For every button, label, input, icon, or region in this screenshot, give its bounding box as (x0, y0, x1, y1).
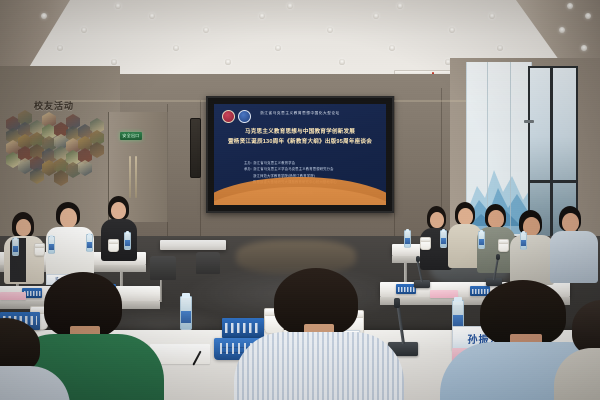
downlight-3-2 (275, 45, 281, 51)
attendee-right-3-head (488, 210, 504, 228)
projection-screen: 浙江省马克思主义教育思想中国化大型论坛 马克思主义教育思想与中国教育学创新发展 … (206, 96, 394, 213)
water-bottle-fg-1 (180, 296, 192, 330)
mic-head-fg (394, 298, 400, 308)
attendee-right-1-head (430, 212, 444, 228)
photo-wall-hex-4-4 (54, 170, 68, 186)
downlight-4-0 (111, 59, 116, 64)
downlight-1-4 (489, 13, 495, 19)
photo-wall-hex-0-3 (6, 152, 20, 168)
attendee-right-5-torso (550, 231, 598, 283)
organizer-name: 浙江省马克思主义教育学会 (253, 161, 295, 165)
photo-wall-hex-5-4 (66, 162, 80, 178)
water-bottle-r1 (404, 230, 411, 248)
photo-wall-hex-6-3 (78, 160, 92, 176)
photo-wall-hex-2-4 (30, 168, 44, 184)
water-bottle-l1 (12, 238, 19, 256)
tea-cup-l2 (108, 240, 119, 252)
exit-sign-label: 安全出口 (122, 134, 139, 138)
downlight-1-5 (585, 13, 591, 19)
downlight-4-1 (225, 59, 230, 64)
cohost-name-0: 浙江省马克思主义学会马克思主义教育思想研究分会 (253, 167, 333, 171)
attendee-right-4-torso (510, 235, 554, 285)
photo-wall-hex-3-4 (42, 160, 56, 176)
table-center-back (160, 240, 226, 250)
photo-wall-hex-7-2 (90, 142, 104, 158)
window-mullion-horizontal (530, 180, 576, 183)
tissue-box-r1 (396, 284, 416, 294)
chair-center-1-leg (160, 280, 162, 302)
slide-title-line-1: 马克思主义教育思想与中国教育学创新发展 (220, 127, 380, 137)
attendee-right-5-head (562, 213, 579, 232)
cohost-label: 承办: (244, 167, 252, 171)
downlight-1-0 (41, 13, 47, 19)
downlight-3-3 (389, 45, 395, 51)
water-bottle-r2 (440, 230, 447, 248)
document-pink-l1 (0, 292, 26, 300)
attendee-left-3-head (111, 202, 126, 219)
conference-room-photo: 校友活动 安全出口 浙江省马克思主义教育思想中国化大型论坛 马克思主义教育思想与… (0, 0, 600, 400)
slide-host-line: 浙江省马克思主义教育思想中国化大型论坛 (214, 111, 386, 116)
slide-title-line-2: 暨杨贤江诞辰130周年《新教育大纲》出版95周年座谈会 (220, 137, 380, 147)
exit-sign: 安全出口 (120, 132, 142, 140)
tea-cup-r2 (498, 240, 509, 252)
downlight-1-1 (149, 13, 155, 19)
tea-cup-l1 (34, 244, 45, 256)
photo-wall-title: 校友活动 (34, 99, 74, 112)
water-bottle-l4 (124, 232, 131, 250)
tissue-box-fg-1 (222, 318, 264, 338)
downlight-3-1 (173, 45, 179, 51)
attendee-left-1-head (16, 219, 31, 236)
organizer-label: 主办: (244, 161, 252, 165)
water-bottle-r3 (478, 231, 485, 249)
downlight-3-0 (57, 45, 63, 51)
chair-center-1 (150, 256, 176, 280)
alumni-photo-wall (2, 98, 114, 206)
downlight-1-3 (373, 13, 379, 19)
attendee-left-3-torso (101, 219, 137, 261)
window-handle[interactable] (524, 120, 534, 123)
downlight-3-5 (581, 45, 587, 51)
water-bottle-r4 (520, 232, 527, 250)
water-bottle-l2 (48, 236, 55, 254)
wall-panel-seam-3 (394, 96, 395, 246)
tea-cup-r1 (420, 238, 431, 250)
attendee-left-2-head (60, 208, 77, 228)
attendee-right-2-head (458, 208, 473, 225)
door-handle-left (129, 156, 131, 198)
photo-wall-hex-1-4 (18, 158, 32, 174)
downlight-4-2 (339, 59, 344, 64)
door-handle-right (135, 156, 137, 198)
wall-speaker-icon (190, 118, 201, 178)
water-bottle-l3 (86, 234, 93, 252)
chair-center-2 (196, 252, 220, 274)
fg-striped-torso (234, 332, 404, 400)
presentation-slide: 浙江省马克思主义教育思想中国化大型论坛 马克思主义教育思想与中国教育学创新发展 … (214, 104, 386, 205)
downlight-3-4 (497, 45, 503, 51)
mic-head-r1 (416, 256, 420, 262)
mic-head-r2 (496, 254, 500, 260)
slide-title: 马克思主义教育思想与中国教育学创新发展 暨杨贤江诞辰130周年《新教育大纲》出版… (220, 127, 380, 148)
downlight-1-2 (259, 13, 265, 19)
